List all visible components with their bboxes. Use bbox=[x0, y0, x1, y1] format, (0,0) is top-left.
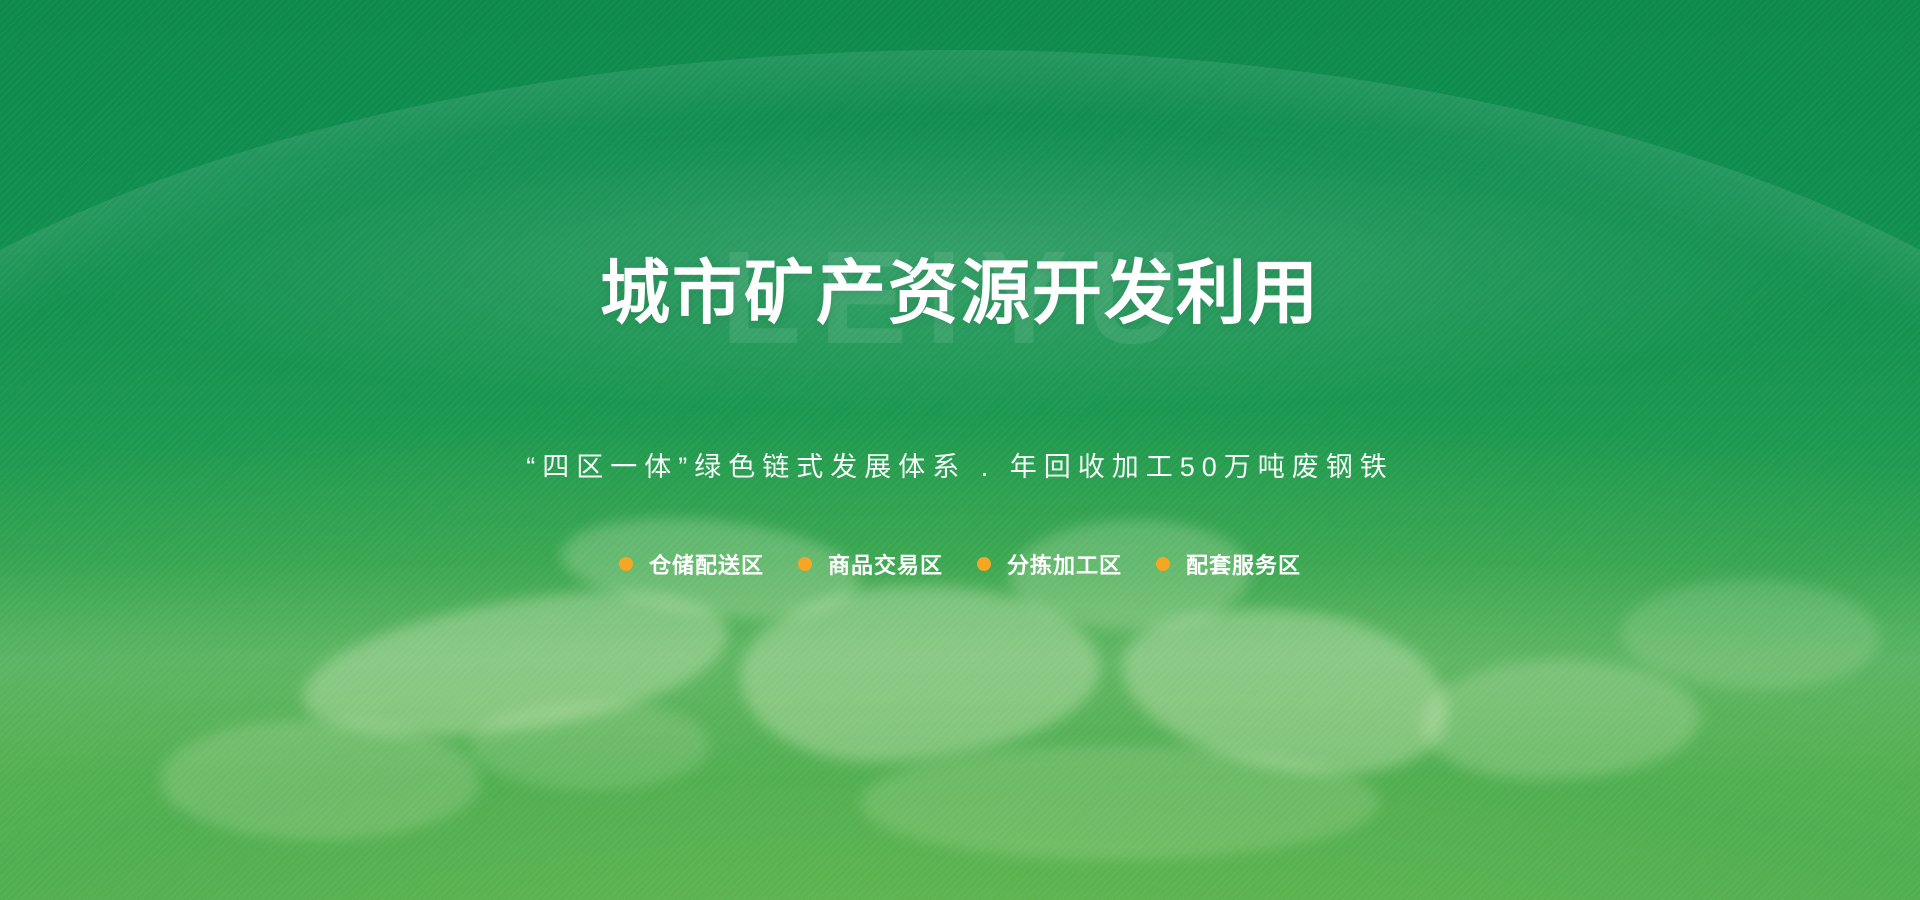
zone-tag-commodity-trading[interactable]: 商品交易区 bbox=[798, 548, 943, 580]
bullet-dot-icon bbox=[798, 557, 812, 571]
zone-tag-label: 配套服务区 bbox=[1186, 548, 1301, 580]
zone-tag-label: 仓储配送区 bbox=[649, 548, 764, 580]
hero-banner: LEIYU 城市矿产资源开发利用 “四区一体”绿色链式发展体系 . 年回收加工5… bbox=[0, 0, 1920, 900]
zone-tag-label: 分拣加工区 bbox=[1007, 548, 1122, 580]
banner-subtitle: “四区一体”绿色链式发展体系 . 年回收加工50万吨废钢铁 bbox=[526, 445, 1394, 484]
zone-tag-support-services[interactable]: 配套服务区 bbox=[1156, 548, 1301, 580]
banner-content: LEIYU 城市矿产资源开发利用 “四区一体”绿色链式发展体系 . 年回收加工5… bbox=[0, 0, 1920, 900]
zone-tag-list: 仓储配送区 商品交易区 分拣加工区 配套服务区 bbox=[619, 548, 1301, 580]
zone-tag-storage-distribution[interactable]: 仓储配送区 bbox=[619, 548, 764, 580]
zone-tag-sorting-processing[interactable]: 分拣加工区 bbox=[977, 548, 1122, 580]
bullet-dot-icon bbox=[619, 557, 633, 571]
bullet-dot-icon bbox=[977, 557, 991, 571]
bullet-dot-icon bbox=[1156, 557, 1170, 571]
banner-title: 城市矿产资源开发利用 bbox=[600, 255, 1320, 332]
zone-tag-label: 商品交易区 bbox=[828, 548, 943, 580]
